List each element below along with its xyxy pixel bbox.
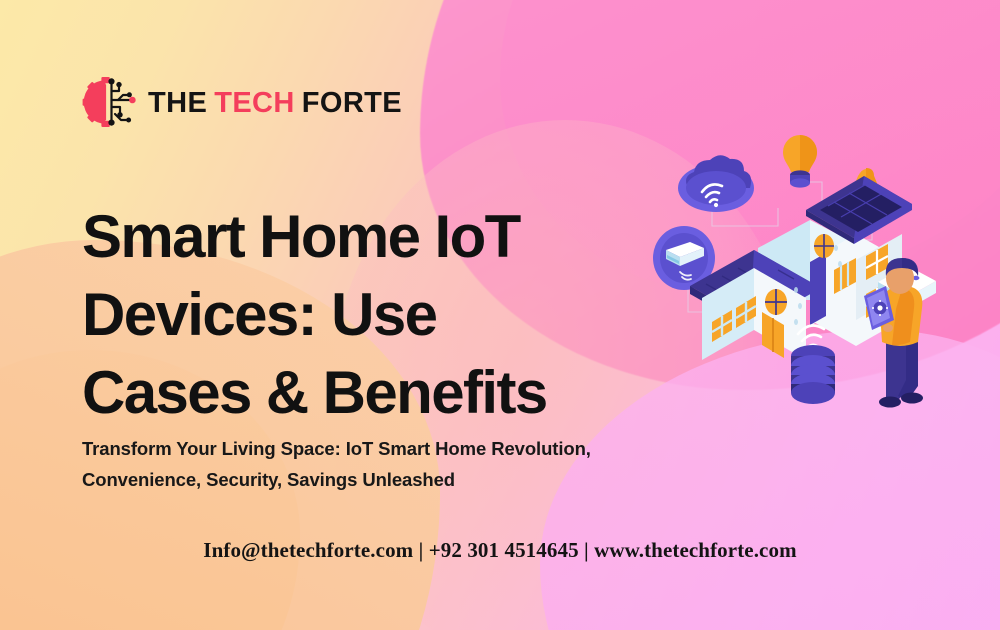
brand-word-forte: FORTE (302, 87, 402, 119)
gear-circuit-icon (82, 76, 138, 128)
brand-logo[interactable]: THETECHFORTE (82, 76, 402, 128)
headline-title: Smart Home IoT Devices: Use Cases & Bene… (82, 198, 682, 432)
cloud-wifi-icon (678, 155, 754, 212)
isometric-smart-home-illustration (650, 130, 950, 430)
brand-logo-wordmark: THETECHFORTE (148, 89, 402, 118)
contact-footer[interactable]: Info@thetechforte.com | +92 301 4514645 … (0, 538, 1000, 563)
banner-canvas: THETECHFORTE Smart Home IoT Devices: Use… (0, 0, 1000, 630)
brand-word-the: THE (148, 87, 207, 119)
subtitle-text: Transform Your Living Space: IoT Smart H… (82, 433, 667, 497)
brand-word-tech: TECH (214, 87, 295, 119)
light-bulb-icon (783, 135, 817, 188)
